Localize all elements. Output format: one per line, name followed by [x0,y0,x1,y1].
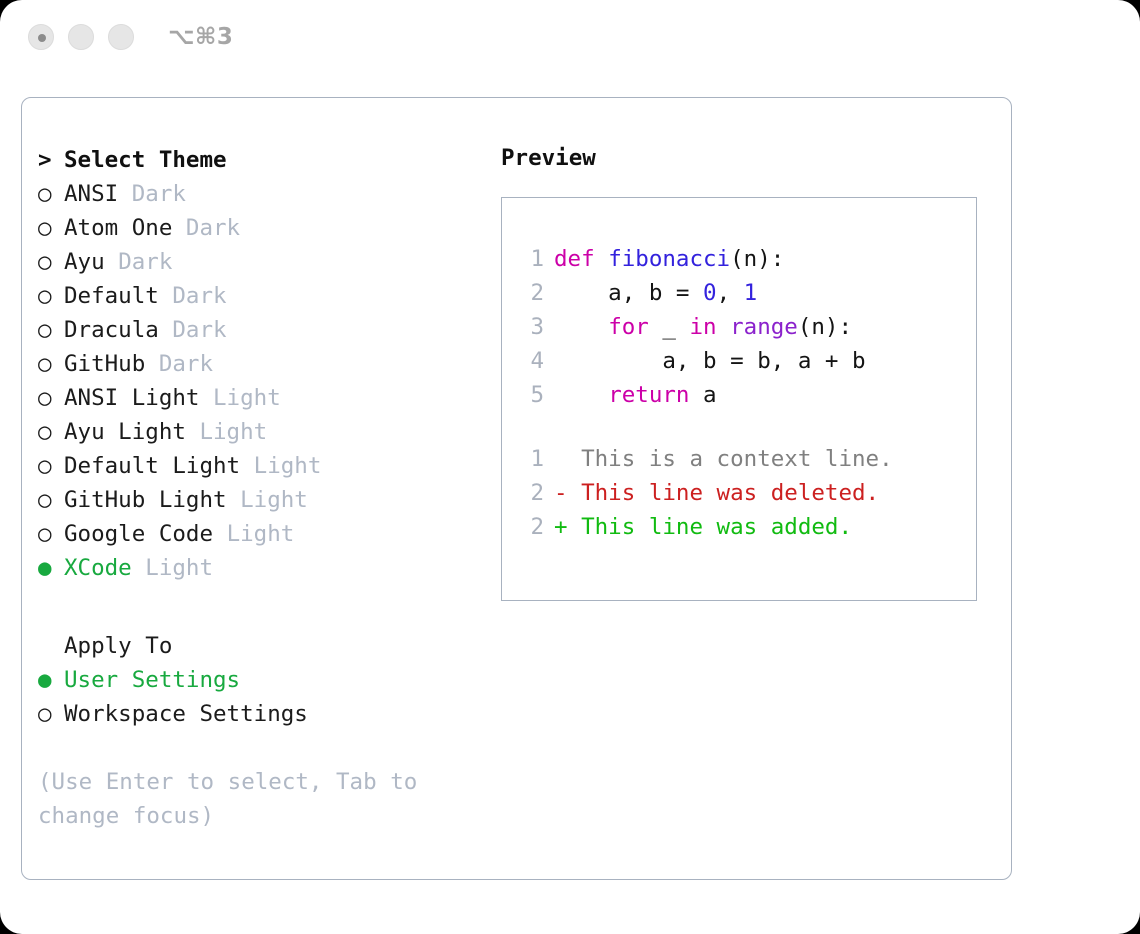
window-maximize-dot[interactable] [108,24,134,50]
theme-list-item[interactable]: ○GitHub Dark [38,347,478,381]
code-token: 1 [744,280,758,306]
theme-list-item[interactable]: ○Atom One Dark [38,211,478,245]
code-line: 5 return a [518,378,968,412]
code-token: , [717,280,744,306]
caret-icon: > [38,143,64,177]
apply-to-section: ○Apply To ●User Settings○Workspace Setti… [38,629,478,731]
code-token: a, b = [554,280,703,306]
theme-name: XCode [64,555,132,581]
apply-to-title: Apply To [64,633,172,659]
radio-unselected-icon: ○ [38,211,64,245]
radio-unselected-icon: ○ [38,279,64,313]
radio-unselected-icon: ○ [38,177,64,211]
code-token [554,382,608,408]
code-token: (n): [798,314,852,340]
theme-list-item[interactable]: ●XCode Light [38,551,478,585]
line-number: 2 [518,276,544,310]
window-close-dot-indicator [38,34,46,42]
code-token: for [608,314,649,340]
keyboard-hint: (Use Enter to select, Tab to change focu… [38,765,478,833]
theme-name: ANSI Light [64,385,199,411]
theme-variant-tag: Light [240,487,308,513]
theme-name: Default [64,283,159,309]
theme-list[interactable]: ○ANSI Dark○Atom One Dark○Ayu Dark○Defaul… [38,177,478,585]
code-line: 3 for _ in range(n): [518,310,968,344]
window-minimize-dot[interactable] [68,24,94,50]
theme-list-item[interactable]: ○Dracula Dark [38,313,478,347]
app-window: ⌥⌘3 >Select Theme ○ANSI Dark○Atom One Da… [0,0,1140,934]
select-theme-title: Select Theme [64,147,227,173]
code-token [595,246,609,272]
diff-lines: 1 This is a context line.2- This line wa… [518,442,968,544]
code-token: return [608,382,689,408]
preview-title: Preview [501,143,991,173]
radio-selected-icon: ● [38,663,64,697]
diff-sign [554,446,568,472]
apply-to-item[interactable]: ●User Settings [38,663,478,697]
theme-list-item[interactable]: ○Ayu Light Light [38,415,478,449]
theme-variant-tag: Light [145,555,213,581]
theme-list-item[interactable]: ○ANSI Light Light [38,381,478,415]
theme-list-item[interactable]: ○Default Light Light [38,449,478,483]
radio-unselected-icon: ○ [38,313,64,347]
radio-unselected-icon: ○ [38,517,64,551]
code-line: 4 a, b = b, a + b [518,344,968,378]
diff-sign: + [554,514,568,540]
theme-name: GitHub Light [64,487,227,513]
spacer-icon: ○ [38,629,64,663]
theme-list-item[interactable]: ○Default Dark [38,279,478,313]
apply-to-label: User Settings [64,667,240,693]
theme-list-item[interactable]: ○ANSI Dark [38,177,478,211]
code-token [554,314,608,340]
code-token: a, b = b, a + b [554,348,866,374]
line-number: 1 [518,442,544,476]
apply-to-list[interactable]: ●User Settings○Workspace Settings [38,663,478,731]
radio-unselected-icon: ○ [38,449,64,483]
code-token: range [730,314,798,340]
code-line: 2 a, b = 0, 1 [518,276,968,310]
code-token: _ [649,314,690,340]
apply-to-label: Workspace Settings [64,701,308,727]
code-sample: 1def fibonacci(n):2 a, b = 0, 13 for _ i… [518,242,968,544]
code-lines: 1def fibonacci(n):2 a, b = 0, 13 for _ i… [518,242,968,412]
line-number: 1 [518,242,544,276]
line-number: 3 [518,310,544,344]
theme-variant-tag: Light [254,453,322,479]
code-line: 1def fibonacci(n): [518,242,968,276]
theme-variant-tag: Light [227,521,295,547]
diff-sign: - [554,480,568,506]
theme-variant-tag: Dark [172,283,226,309]
radio-selected-icon: ● [38,551,64,585]
line-number: 5 [518,378,544,412]
theme-list-item[interactable]: ○Google Code Light [38,517,478,551]
line-number: 2 [518,510,544,544]
theme-name: Google Code [64,521,213,547]
diff-line: 2- This line was deleted. [518,476,968,510]
code-token: def [554,246,595,272]
code-token: (n): [730,246,784,272]
theme-variant-tag: Dark [118,249,172,275]
radio-unselected-icon: ○ [38,381,64,415]
line-number: 4 [518,344,544,378]
diff-line: 2+ This line was added. [518,510,968,544]
line-number: 2 [518,476,544,510]
theme-name: Atom One [64,215,172,241]
keyboard-shortcut-label: ⌥⌘3 [168,24,233,50]
theme-name: Ayu Light [64,419,186,445]
theme-variant-tag: Light [213,385,281,411]
diff-line: 1 This is a context line. [518,442,968,476]
diff-text: This is a context line. [568,446,893,472]
theme-list-item[interactable]: ○Ayu Dark [38,245,478,279]
theme-name: Ayu [64,249,105,275]
code-token: fibonacci [608,246,730,272]
select-theme-header: >Select Theme [38,143,478,177]
code-token: in [689,314,716,340]
radio-unselected-icon: ○ [38,245,64,279]
theme-name: GitHub [64,351,145,377]
diff-text: This line was added. [568,514,852,540]
theme-name: ANSI [64,181,118,207]
theme-variant-tag: Dark [186,215,240,241]
main-panel: >Select Theme ○ANSI Dark○Atom One Dark○A… [21,97,1012,880]
keyboard-hint-line-1: (Use Enter to select, Tab to [38,765,438,799]
code-token: 0 [703,280,717,306]
theme-list-item[interactable]: ○GitHub Light Light [38,483,478,517]
theme-name: Default Light [64,453,240,479]
radio-unselected-icon: ○ [38,415,64,449]
theme-variant-tag: Dark [172,317,226,343]
keyboard-hint-line-2: change focus) [38,799,438,833]
preview-column: Preview 1def fibonacci(n):2 a, b = 0, 13… [501,143,991,601]
theme-variant-tag: Light [199,419,267,445]
theme-variant-tag: Dark [132,181,186,207]
code-token [717,314,731,340]
code-token: a [689,382,716,408]
diff-text: This line was deleted. [568,480,880,506]
radio-unselected-icon: ○ [38,347,64,381]
radio-unselected-icon: ○ [38,483,64,517]
title-bar: ⌥⌘3 [0,0,1140,80]
theme-selection-column: >Select Theme ○ANSI Dark○Atom One Dark○A… [38,143,478,833]
radio-unselected-icon: ○ [38,697,64,731]
theme-name: Dracula [64,317,159,343]
preview-box: 1def fibonacci(n):2 a, b = 0, 13 for _ i… [501,197,977,601]
apply-to-item[interactable]: ○Workspace Settings [38,697,478,731]
theme-variant-tag: Dark [159,351,213,377]
apply-to-header: ○Apply To [38,629,478,663]
